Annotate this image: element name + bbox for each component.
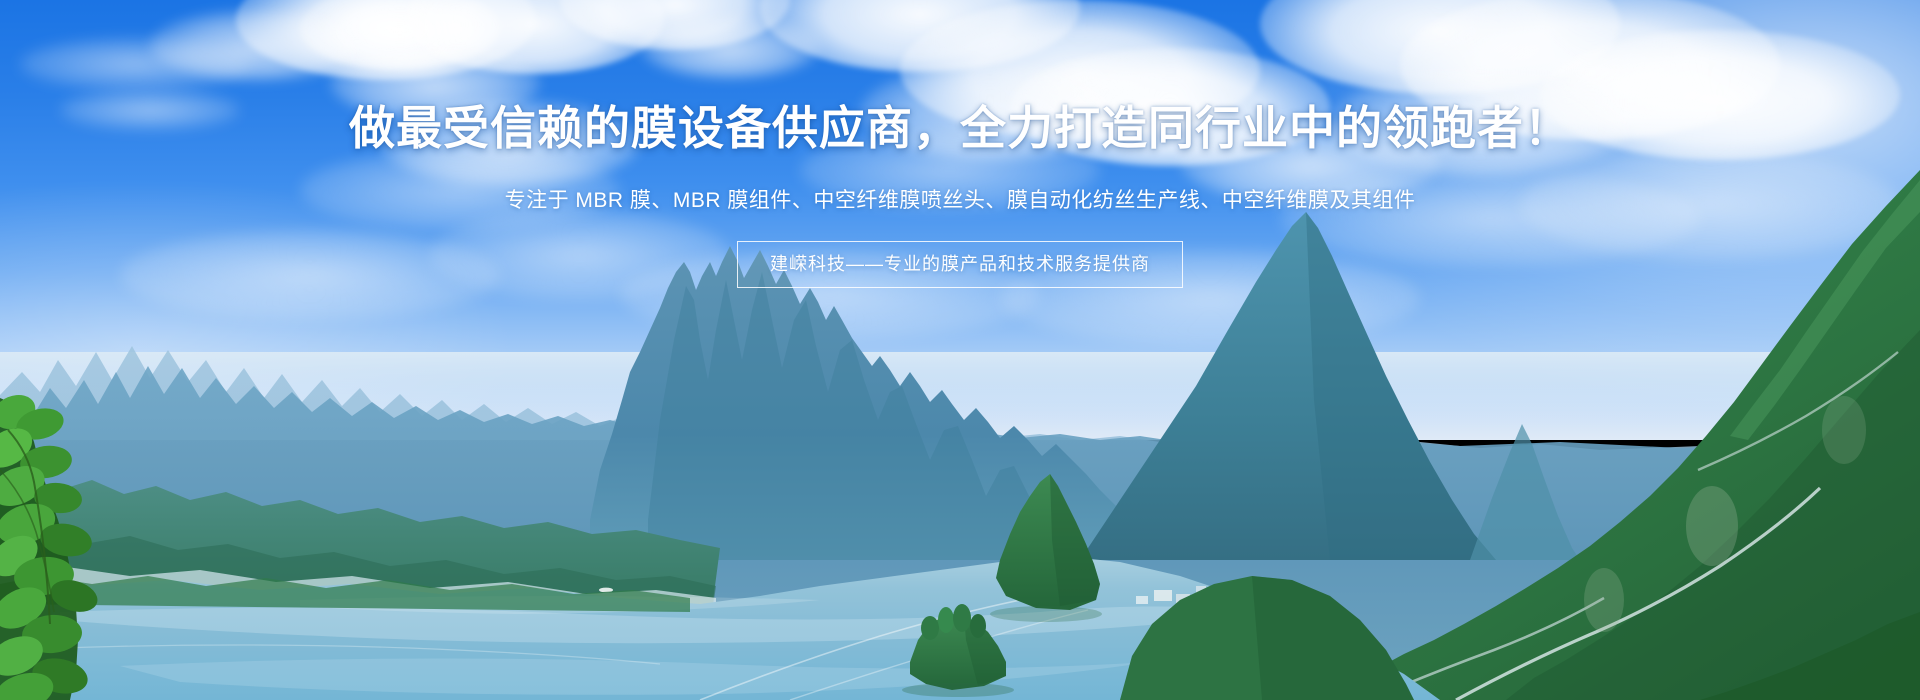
banner-subtitle: 专注于 MBR 膜、MBR 膜组件、中空纤维膜喷丝头、膜自动化纺丝生产线、中空纤… — [0, 186, 1920, 216]
tagline-box: 建嵘科技——专业的膜产品和技术服务提供商 — [737, 241, 1183, 288]
page-title: 做最受信赖的膜设备供应商，全力打造同行业中的领跑者！ — [0, 103, 1920, 153]
tagline-container: 建嵘科技——专业的膜产品和技术服务提供商 — [0, 241, 1920, 288]
hero-banner: 做最受信赖的膜设备供应商，全力打造同行业中的领跑者！ 专注于 MBR 膜、MBR… — [0, 0, 1920, 700]
